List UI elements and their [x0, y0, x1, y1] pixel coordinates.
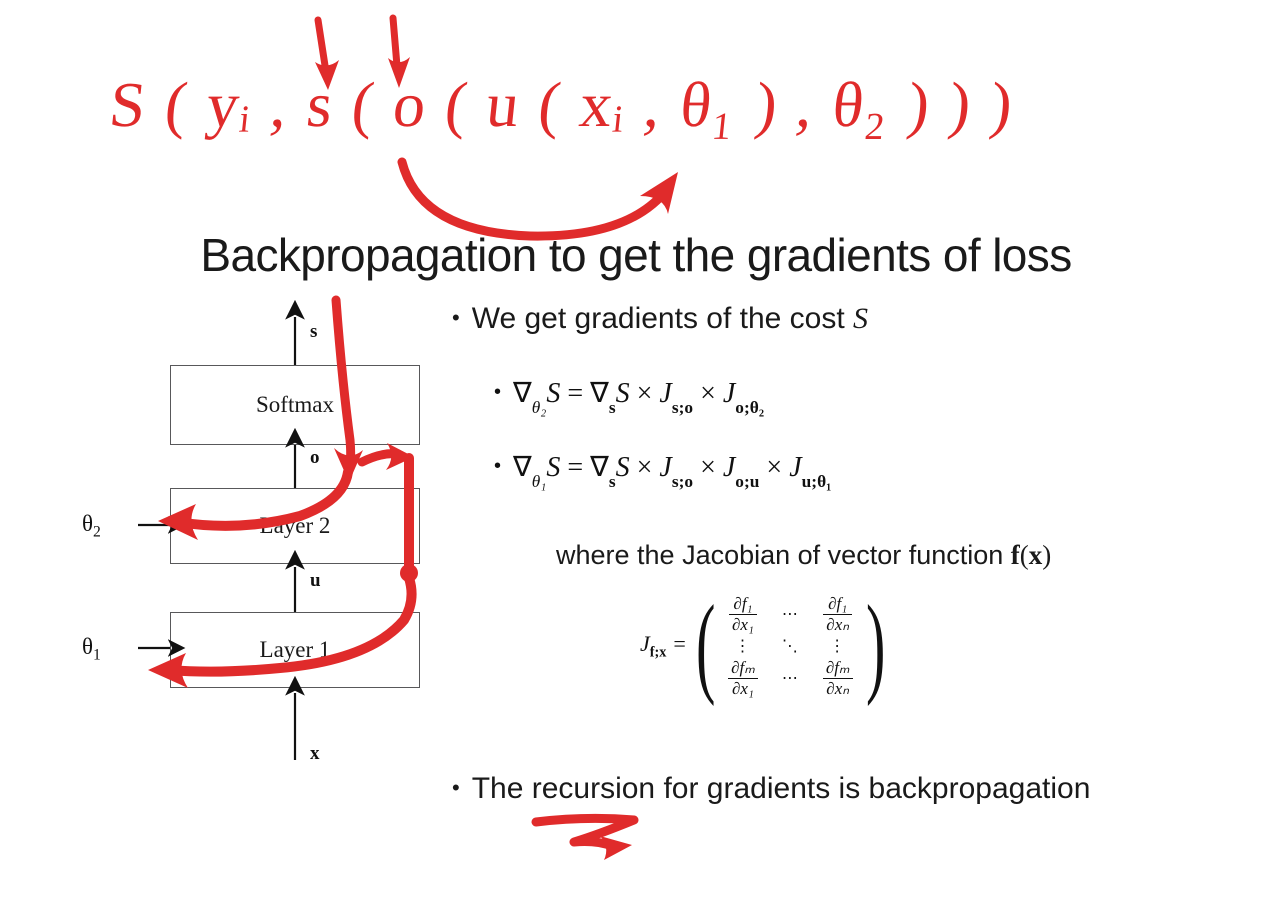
jacobian-matrix: Jf;x = ( ∂f₁ ∂x₁ ⋯ ∂f₁ ∂xₙ ⋮ ⋱ ⋮ ∂fₘ ∂x₁…	[640, 592, 894, 700]
matrix-cell: ∂fₘ ∂x₁	[728, 658, 758, 698]
jacobian-symbol: J	[723, 452, 735, 483]
matrix-ellipsis: ⋯	[782, 668, 799, 688]
theta1-subscript: 1	[93, 647, 101, 664]
equals-sign: =	[567, 378, 583, 409]
bullet-we-get-gradients-text: We get gradients of the cost	[472, 302, 853, 335]
times-sign: ×	[766, 452, 782, 483]
matrix-ellipsis: ⋮	[829, 636, 846, 656]
theta2-subscript: 2	[93, 524, 101, 541]
theta2-glyph: θ	[82, 511, 93, 536]
vector-function-f: f	[1011, 540, 1020, 570]
slide-canvas: Backpropagation to get the gradients of …	[0, 0, 1272, 910]
jacobian-matrix-lhs: Jf;x =	[640, 631, 687, 661]
term-subscript: s	[609, 472, 616, 491]
nabla-subscript: θ₁	[532, 472, 547, 491]
handwritten-formula: S ( yᵢ , s ( o ( u ( xᵢ , θ₁ ) , θ₂ ) ) …	[106, 68, 1018, 142]
bullet-marker-icon: •	[452, 305, 460, 330]
matrix-cell: ∂f₁ ∂xₙ	[823, 594, 852, 634]
matrix-cell-numerator: ∂f₁	[823, 594, 852, 615]
page-title: Backpropagation to get the gradients of …	[0, 228, 1272, 282]
jacobian-lhs-symbol: J	[640, 631, 650, 656]
jacobian-symbol: J	[659, 378, 671, 409]
times-sign: ×	[637, 452, 653, 483]
diagram-signal-label-s: s	[310, 321, 317, 343]
bullet-marker-icon: •	[452, 775, 460, 800]
diagram-arrows	[60, 295, 460, 785]
term-fn: S	[616, 378, 630, 409]
matrix-ellipsis: ⋮	[734, 636, 751, 656]
bullet-marker-icon: •	[494, 381, 501, 403]
bullet-we-get-gradients: •We get gradients of the cost S	[452, 300, 1182, 338]
times-sign: ×	[700, 452, 716, 483]
equation-lhs-fn: S	[546, 378, 560, 409]
jacobian-subscript: o;u	[735, 472, 759, 491]
times-sign: ×	[700, 378, 716, 409]
matrix-paren-right: )	[865, 611, 884, 680]
diagram-signal-label-u: u	[310, 570, 321, 592]
matrix-cell-denominator: ∂xₙ	[823, 679, 853, 699]
matrix-ellipsis: ⋱	[782, 636, 799, 656]
diagram-signal-label-o: o	[310, 447, 320, 469]
jacobian-lhs-subscript: f;x	[650, 644, 667, 660]
curved-arrow-under-formula-icon	[402, 162, 678, 236]
zigzag-underline-icon	[536, 818, 634, 860]
jacobian-equals: =	[672, 631, 687, 656]
vector-variable-x: x	[1029, 540, 1043, 570]
bullet-marker-icon: •	[494, 455, 501, 477]
diagram-signal-label-x: x	[310, 743, 320, 765]
equation-lhs-fn: S	[546, 452, 560, 483]
jacobian-symbol: J	[723, 378, 735, 409]
equation-grad-theta1: •∇θ₁S = ∇sS × Js;o × Jo;u × Ju;θ₁	[494, 450, 1182, 484]
cost-symbol: S	[853, 302, 868, 335]
nabla-icon: ∇	[513, 378, 532, 409]
paren-close: )	[1042, 540, 1051, 570]
jacobian-symbol: J	[789, 452, 801, 483]
times-sign: ×	[637, 378, 653, 409]
diagram-param-label-theta1: θ1	[82, 634, 101, 665]
where-jacobian-text: where the Jacobian of vector function	[556, 540, 1011, 570]
matrix-cell-denominator: ∂x₁	[728, 679, 758, 699]
jacobian-subscript: u;θ₁	[802, 472, 832, 491]
matrix-ellipsis: ⋯	[782, 604, 799, 624]
matrix-cell-numerator: ∂fₘ	[728, 658, 758, 679]
bullet-recursion-backprop-text: The recursion for gradients is backpropa…	[472, 772, 1091, 805]
network-diagram: Softmax Layer 2 Layer 1	[60, 295, 460, 785]
bullet-recursion-backprop: •The recursion for gradients is backprop…	[452, 770, 1090, 808]
jacobian-symbol: J	[659, 452, 671, 483]
matrix-cell-numerator: ∂f₁	[729, 594, 757, 615]
matrix-cell-numerator: ∂fₘ	[823, 658, 853, 679]
nabla-icon: ∇	[513, 452, 532, 483]
equation-grad-theta2: •∇θ₂S = ∇sS × Js;o × Jo;θ₂	[494, 376, 1182, 410]
content-column: •We get gradients of the cost S •∇θ₂S = …	[452, 300, 1182, 484]
diagram-param-label-theta2: θ2	[82, 511, 101, 542]
where-jacobian-line: where the Jacobian of vector function f(…	[556, 540, 1051, 571]
equals-sign: =	[567, 452, 583, 483]
term-fn: S	[616, 452, 630, 483]
matrix-cell-denominator: ∂xₙ	[823, 615, 852, 635]
matrix-cell: ∂fₘ ∂xₙ	[823, 658, 853, 698]
nabla-subscript: θ₂	[532, 398, 547, 417]
nabla-icon: ∇	[590, 378, 609, 409]
jacobian-subscript: s;o	[672, 398, 693, 417]
jacobian-subscript: s;o	[672, 472, 693, 491]
matrix-cell-denominator: ∂x₁	[729, 615, 757, 635]
nabla-icon: ∇	[590, 452, 609, 483]
paren-open: (	[1020, 540, 1029, 570]
matrix-paren-left: (	[696, 611, 715, 680]
term-subscript: s	[609, 398, 616, 417]
theta1-glyph: θ	[82, 634, 93, 659]
matrix-cell: ∂f₁ ∂x₁	[729, 594, 757, 634]
jacobian-matrix-grid: ∂f₁ ∂x₁ ⋯ ∂f₁ ∂xₙ ⋮ ⋱ ⋮ ∂fₘ ∂x₁ ⋯ ∂fₘ ∂x…	[724, 592, 856, 700]
jacobian-subscript: o;θ₂	[735, 398, 764, 417]
